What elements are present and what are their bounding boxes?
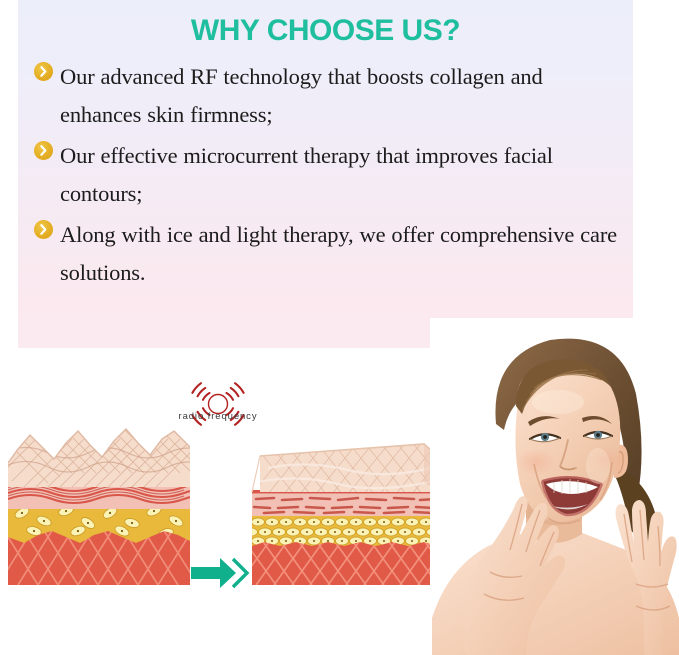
smooth-skin-cross-section-icon (248, 442, 438, 585)
list-item: Our advanced RF technology that boosts c… (34, 58, 618, 134)
right-arrow-icon (190, 556, 252, 590)
why-choose-us-panel: WHY CHOOSE US? Our advanced RF technolog… (18, 0, 633, 348)
list-item: Along with ice and light therapy, we off… (34, 216, 618, 292)
list-item-label: Our effective microcurrent therapy that … (60, 137, 618, 213)
chevron-right-circle-icon (34, 62, 53, 81)
smiling-woman-photo (430, 318, 679, 655)
list-item-label: Our advanced RF technology that boosts c… (60, 58, 618, 134)
list-item: Our effective microcurrent therapy that … (34, 137, 618, 213)
wrinkled-skin-cross-section-icon (8, 425, 190, 585)
benefits-list: Our advanced RF technology that boosts c… (34, 58, 618, 295)
radio-frequency-waves-icon (182, 368, 254, 440)
radio-frequency-label: radio frequency (160, 411, 276, 422)
chevron-right-circle-icon (34, 141, 53, 160)
chevron-right-circle-icon (34, 220, 53, 239)
page-title: WHY CHOOSE US? (18, 14, 633, 48)
list-item-label: Along with ice and light therapy, we off… (60, 216, 618, 292)
